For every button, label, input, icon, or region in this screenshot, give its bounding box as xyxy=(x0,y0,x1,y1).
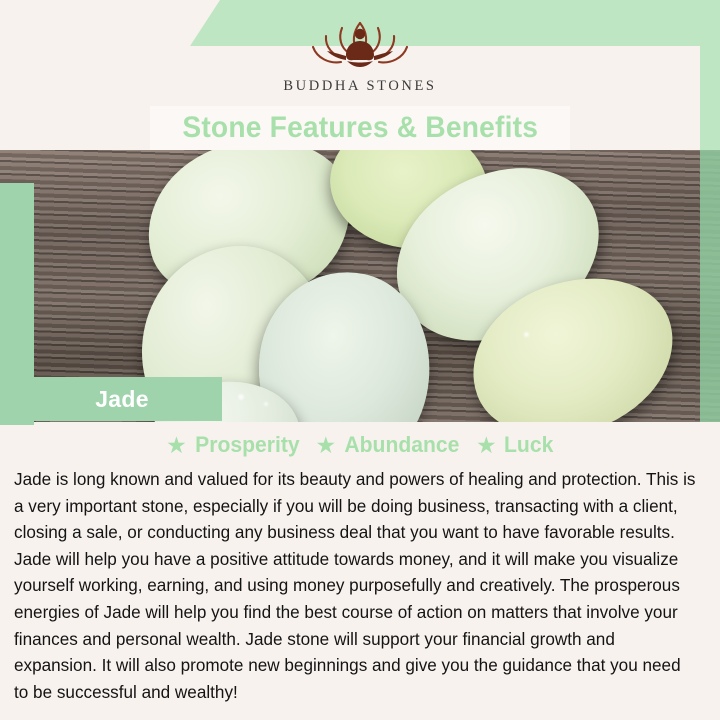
feature-item: ★ Luck xyxy=(476,432,554,458)
star-icon: ★ xyxy=(316,434,337,457)
stone-description: Jade is long known and valued for its be… xyxy=(14,466,700,705)
feature-list: ★ Prosperity ★ Abundance ★ Luck xyxy=(0,422,720,462)
highlight-speck xyxy=(238,394,244,400)
stone-name-label: Jade xyxy=(22,377,222,421)
stone-name-text: Jade xyxy=(95,386,149,413)
feature-item: ★ Prosperity xyxy=(166,432,301,458)
title-banner: Stone Features & Benefits xyxy=(150,106,570,150)
highlight-speck xyxy=(264,402,268,406)
star-icon: ★ xyxy=(476,434,497,457)
feature-item: ★ Abundance xyxy=(316,432,462,458)
brand-logo: BUDDHA STONES xyxy=(0,14,720,106)
content-section: ★ Prosperity ★ Abundance ★ Luck Jade is … xyxy=(0,422,720,720)
feature-label: Prosperity xyxy=(195,432,299,458)
infographic-page: BUDDHA STONES Stone Features & Benefits … xyxy=(0,0,720,720)
highlight-speck xyxy=(524,332,529,337)
star-icon: ★ xyxy=(166,434,187,457)
page-title: Stone Features & Benefits xyxy=(182,111,538,145)
lotus-meditation-icon xyxy=(301,14,419,76)
brand-name: BUDDHA STONES xyxy=(283,78,436,95)
feature-label: Luck xyxy=(504,432,553,458)
decor-right-lower-green-strip xyxy=(700,150,720,422)
feature-label: Abundance xyxy=(345,432,460,458)
